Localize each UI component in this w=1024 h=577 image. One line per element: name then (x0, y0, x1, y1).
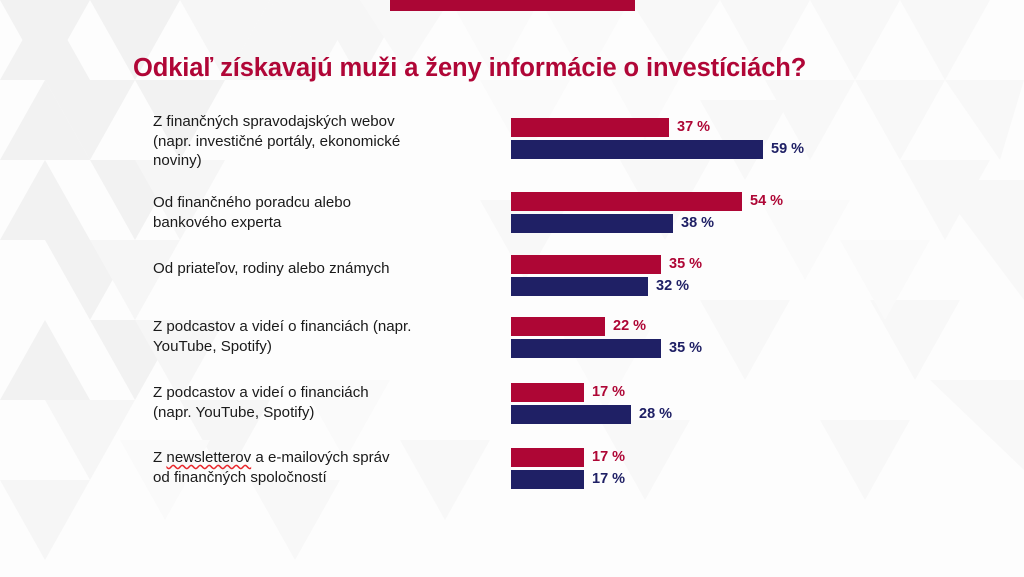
bar-value-men: 37 % (677, 118, 710, 137)
bar-value-women: 35 % (669, 339, 702, 358)
bar-chart: Z finančných spravodajských webov (napr.… (0, 108, 1024, 498)
bar-value-women: 17 % (592, 470, 625, 489)
bar-value-men: 35 % (669, 255, 702, 274)
bar-value-women: 28 % (639, 405, 672, 424)
misspelled-word: newsletterov (166, 449, 251, 466)
row-label: Od finančného poradcu alebo bankového ex… (153, 193, 498, 232)
bar-value-men: 54 % (750, 192, 783, 211)
row-label-line: Z finančných spravodajských webov (153, 112, 498, 132)
bar-men (511, 448, 584, 467)
row-label: Od priateľov, rodiny alebo známych (153, 259, 498, 279)
row-label-line: Z podcastov a videí o financiách (153, 383, 498, 403)
bar-value-women: 32 % (656, 277, 689, 296)
row-label-line: (napr. YouTube, Spotify) (153, 403, 498, 423)
row-label-line: noviny) (153, 151, 498, 171)
bar-men (511, 192, 742, 211)
row-label: Z newsletterov a e-mailových správ od fi… (153, 448, 498, 487)
row-label-line: Z podcastov a videí o financiách (napr. (153, 317, 498, 337)
row-label-line: Od priateľov, rodiny alebo známych (153, 259, 498, 279)
row-label-line: od finančných spoločností (153, 468, 498, 488)
bar-value-women: 38 % (681, 214, 714, 233)
row-label: Z podcastov a videí o financiách (napr. … (153, 317, 498, 356)
bar-women (511, 277, 648, 296)
bar-women (511, 339, 661, 358)
row-label-line: bankového experta (153, 213, 498, 233)
bar-value-men: 17 % (592, 383, 625, 402)
bar-men (511, 118, 669, 137)
bar-value-women: 59 % (771, 140, 804, 159)
top-accent-bar (390, 0, 635, 11)
bar-men (511, 383, 584, 402)
row-label: Z podcastov a videí o financiách (napr. … (153, 383, 498, 422)
bar-women (511, 405, 631, 424)
bar-value-men: 22 % (613, 317, 646, 336)
row-label-line: (napr. investičné portály, ekonomické (153, 132, 498, 152)
bar-women (511, 470, 584, 489)
page-title: Odkiaľ získavajú muži a ženy informácie … (133, 54, 933, 83)
bar-women (511, 140, 763, 159)
bar-women (511, 214, 673, 233)
row-label-line: YouTube, Spotify) (153, 337, 498, 357)
row-label-line-spellcheck: Z newsletterov a e-mailových správ (153, 448, 498, 468)
row-label-line: Od finančného poradcu alebo (153, 193, 498, 213)
footer: NEXT ŽENY HAVEL & PARTNERS ÚSPECH SPÁJA … (0, 507, 1024, 577)
bar-value-men: 17 % (592, 448, 625, 467)
bar-men (511, 255, 661, 274)
row-label: Z finančných spravodajských webov (napr.… (153, 112, 498, 171)
slide: Odkiaľ získavajú muži a ženy informácie … (0, 0, 1024, 577)
bar-men (511, 317, 605, 336)
